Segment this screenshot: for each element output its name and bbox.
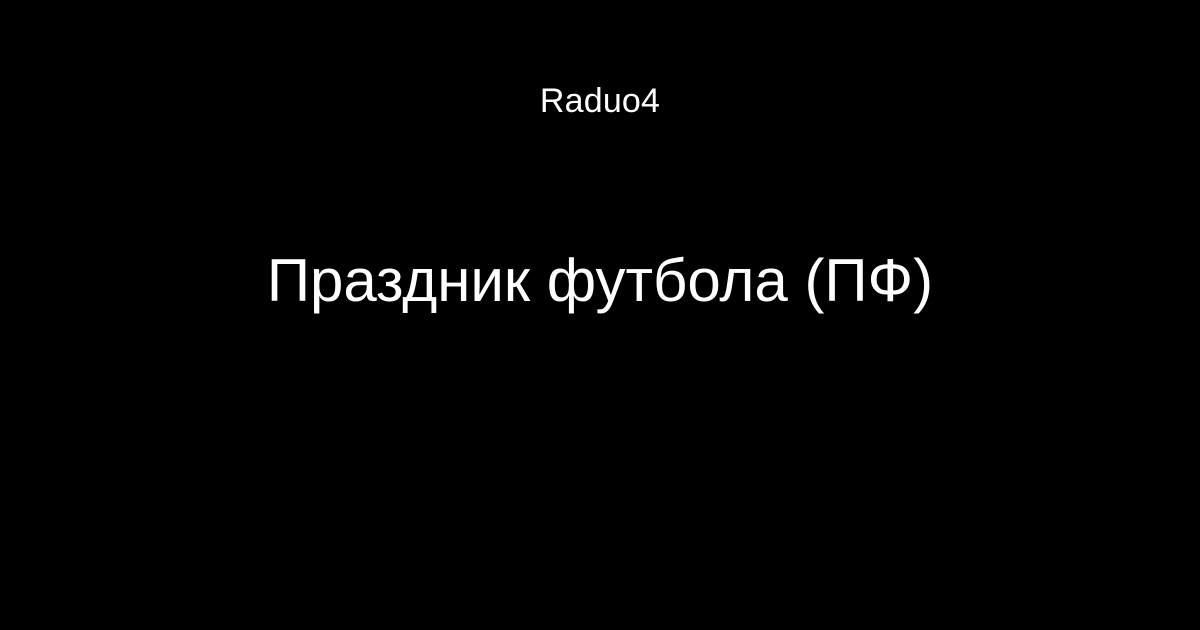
site-brand-name: Raduo4 (0, 0, 1200, 118)
social-preview-card: Raduo4 Праздник футбола (ПФ) (0, 0, 1200, 630)
page-title: Праздник футбола (ПФ) (267, 246, 933, 316)
headline-container: Праздник футбола (ПФ) (0, 246, 1200, 326)
